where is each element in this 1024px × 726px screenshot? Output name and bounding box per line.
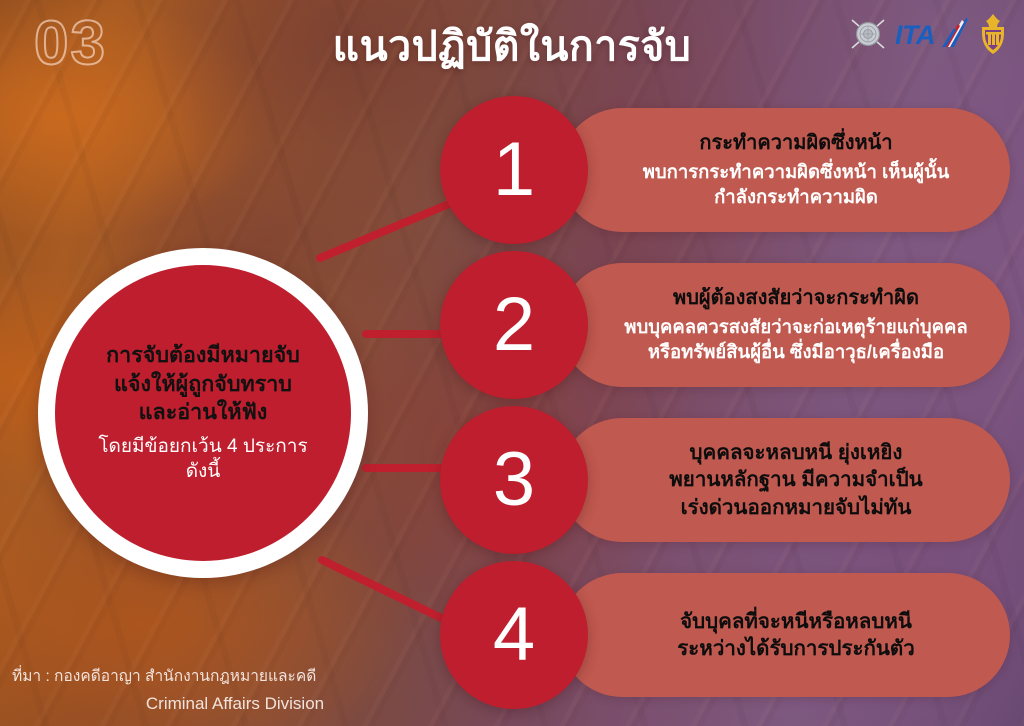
ita-logo-text: ITA [895, 20, 935, 50]
item-body-line: เร่งด่วนออกหมายจับไม่ทัน [669, 494, 922, 521]
item-body-line: พยานหลักฐาน มีความจำเป็น [669, 466, 922, 493]
item-body-4: จับบุคลที่จะหนีหรือหลบหนี ระหว่างได้รับก… [677, 608, 914, 663]
police-emblem-logo [848, 14, 888, 54]
item-body-3: บุคคลจะหลบหนี ยุ่งเหยิง พยานหลักฐาน มีคว… [669, 439, 922, 521]
center-heading-line: แจ้งให้ผู้ถูกจับทราบ [106, 370, 300, 398]
item-number-3[interactable]: 3 [440, 406, 588, 554]
item-number-1[interactable]: 1 [440, 96, 588, 244]
item-heading-1: กระทำความผิดซึ่งหน้า [699, 130, 892, 156]
item-pill-2[interactable]: พบผู้ต้องสงสัยว่าจะกระทำผิด พบบุคคลควรสง… [560, 263, 1010, 387]
center-subtext: โดยมีข้อยกเว้น 4 ประการ ดังนี้ [98, 435, 307, 484]
item-row-2: พบผู้ต้องสงสัยว่าจะกระทำผิด พบบุคคลควรสง… [440, 251, 1010, 399]
center-heading: การจับต้องมีหมายจับ แจ้งให้ผู้ถูกจับทราบ… [106, 341, 300, 426]
center-subtext-line: ดังนี้ [98, 460, 307, 485]
item-number-4[interactable]: 4 [440, 561, 588, 709]
item-body-line: หรือทรัพย์สินผู้อื่น ซึ่งมีอาวุธ/เครื่อง… [624, 340, 967, 365]
center-subtext-line: โดยมีข้อยกเว้น 4 ประการ [98, 435, 307, 460]
infographic-slide: 03 แนวปฏิบัติในการจับ ITA [0, 0, 1024, 726]
item-body-line: พบบุคคลควรสงสัยว่าจะก่อเหตุร้ายแก่บุคคล [624, 315, 967, 340]
footer-source-text: ที่มา : กองคดีอาญา สำนักงานกฎหมายและคดี [12, 665, 432, 688]
center-heading-line: และอ่านให้ฟัง [106, 398, 300, 426]
item-body-1: พบการกระทำความผิดซึ่งหน้า เห็นผู้นั้น กำ… [643, 160, 950, 210]
center-heading-line: การจับต้องมีหมายจับ [106, 341, 300, 369]
item-body-line: จับบุคลที่จะหนีหรือหลบหนี [677, 608, 914, 635]
royal-thai-police-emblem-logo [976, 13, 1010, 55]
item-row-3: บุคคลจะหลบหนี ยุ่งเหยิง พยานหลักฐาน มีคว… [440, 406, 1010, 554]
header: 03 แนวปฏิบัติในการจับ ITA [0, 0, 1024, 92]
item-body-line: กำลังกระทำความผิด [643, 185, 950, 210]
item-pill-1[interactable]: กระทำความผิดซึ่งหน้า พบการกระทำความผิดซึ… [560, 108, 1010, 232]
item-body-line: ระหว่างได้รับการประกันตัว [677, 635, 914, 662]
item-pill-3[interactable]: บุคคลจะหลบหนี ยุ่งเหยิง พยานหลักฐาน มีคว… [560, 418, 1010, 542]
item-body-line: บุคคลจะหลบหนี ยุ่งเหยิง [669, 439, 922, 466]
item-body-line: พบการกระทำความผิดซึ่งหน้า เห็นผู้นั้น [643, 160, 950, 185]
ita-logo: ITA [894, 14, 970, 54]
footer: ที่มา : กองคดีอาญา สำนักงานกฎหมายและคดี … [12, 665, 432, 716]
center-disc: การจับต้องมีหมายจับ แจ้งให้ผู้ถูกจับทราบ… [55, 265, 351, 561]
item-heading-2: พบผู้ต้องสงสัยว่าจะกระทำผิด [673, 285, 919, 311]
footer-english-text: Criminal Affairs Division [12, 691, 432, 717]
item-row-1: กระทำความผิดซึ่งหน้า พบการกระทำความผิดซึ… [440, 96, 1010, 244]
item-pill-4[interactable]: จับบุคลที่จะหนีหรือหลบหนี ระหว่างได้รับก… [560, 573, 1010, 697]
item-body-2: พบบุคคลควรสงสัยว่าจะก่อเหตุร้ายแก่บุคคล … [624, 315, 967, 365]
center-node: การจับต้องมีหมายจับ แจ้งให้ผู้ถูกจับทราบ… [38, 248, 368, 578]
item-row-4: จับบุคลที่จะหนีหรือหลบหนี ระหว่างได้รับก… [440, 561, 1010, 709]
logo-group: ITA [848, 12, 1010, 56]
item-number-2[interactable]: 2 [440, 251, 588, 399]
